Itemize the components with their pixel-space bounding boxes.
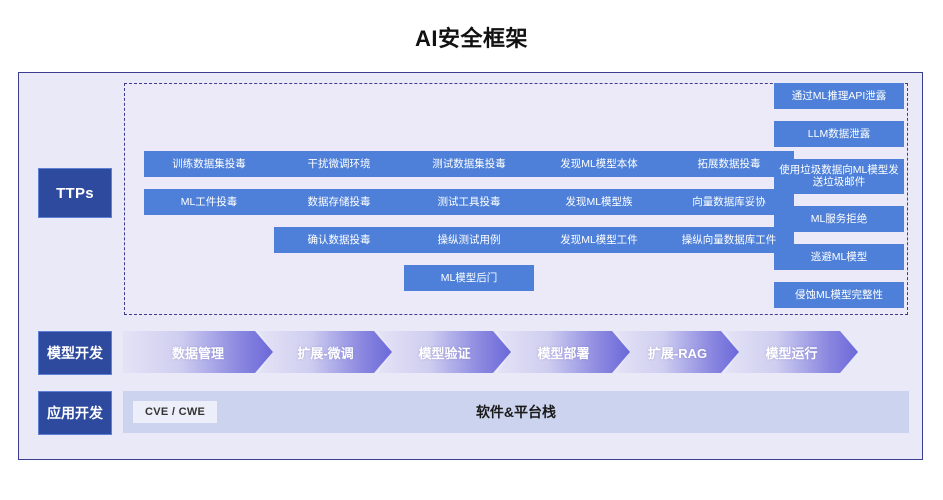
ttp-column: 训练数据集投毒ML工件投毒 [144,151,274,227]
ttp-box[interactable]: ML工件投毒 [144,189,274,215]
ttp-box[interactable]: 操纵测试用例 [404,227,534,253]
pipeline-stage-arrow[interactable]: 扩展-微调 [259,331,392,373]
pipeline-stage-arrow[interactable]: 数据管理 [123,331,273,373]
pipeline-stage-arrow[interactable]: 模型运行 [725,331,858,373]
row-label-model-development: 模型开发 [38,331,112,375]
row-label-ttps: TTPs [38,168,112,218]
ttp-box[interactable]: 使用垃圾数据向ML模型发送垃圾邮件 [774,159,904,194]
pipeline-stage-arrow[interactable]: 模型验证 [378,331,511,373]
ttp-column: 通过ML推理API泄露LLM数据泄露使用垃圾数据向ML模型发送垃圾邮件ML服务拒… [774,83,904,320]
ttp-box[interactable]: 数据存储投毒 [274,189,404,215]
ttp-column: 干扰微调环境数据存储投毒确认数据投毒 [274,151,404,265]
ttp-box[interactable]: 侵蚀ML模型完整性 [774,282,904,308]
ttp-box[interactable]: 测试数据集投毒 [404,151,534,177]
application-development-row: 应用开发 CVE / CWE 软件&平台栈 [19,387,922,441]
ttp-box[interactable]: 通过ML推理API泄露 [774,83,904,109]
ttp-box[interactable]: 测试工具投毒 [404,189,534,215]
ttp-box[interactable]: 确认数据投毒 [274,227,404,253]
cve-cwe-chip[interactable]: CVE / CWE [133,401,217,423]
platform-stack-title: 软件&平台栈 [123,402,909,422]
ttp-box[interactable]: 发现ML模型工件 [534,227,664,253]
model-development-row: 模型开发 数据管理扩展-微调模型验证模型部署扩展-RAG模型运行 [19,325,922,381]
ttp-column: 发现ML模型本体发现ML模型族发现ML模型工件 [534,151,664,265]
pipeline-arrow-track: 数据管理扩展-微调模型验证模型部署扩展-RAG模型运行 [123,331,913,373]
framework-card: TTPs 训练数据集投毒ML工件投毒干扰微调环境数据存储投毒确认数据投毒测试数据… [18,72,923,460]
ttp-box[interactable]: 发现ML模型族 [534,189,664,215]
pipeline-stage-arrow[interactable]: 模型部署 [497,331,630,373]
platform-stack-bar: CVE / CWE 软件&平台栈 [123,391,909,433]
row-label-application-development: 应用开发 [38,391,112,435]
ttp-box[interactable]: 干扰微调环境 [274,151,404,177]
ttp-box[interactable]: LLM数据泄露 [774,121,904,147]
ttp-column: 测试数据集投毒测试工具投毒操纵测试用例ML模型后门 [404,151,534,303]
ttp-box[interactable]: ML模型后门 [404,265,534,291]
ttp-box[interactable]: 逃避ML模型 [774,244,904,270]
ttp-box[interactable]: 训练数据集投毒 [144,151,274,177]
page-title: AI安全框架 [0,0,943,50]
pipeline-stage-arrow[interactable]: 扩展-RAG [616,331,739,373]
ttp-box[interactable]: ML服务拒绝 [774,206,904,232]
ttps-row: TTPs 训练数据集投毒ML工件投毒干扰微调环境数据存储投毒确认数据投毒测试数据… [19,73,922,321]
ttp-box[interactable]: 发现ML模型本体 [534,151,664,177]
